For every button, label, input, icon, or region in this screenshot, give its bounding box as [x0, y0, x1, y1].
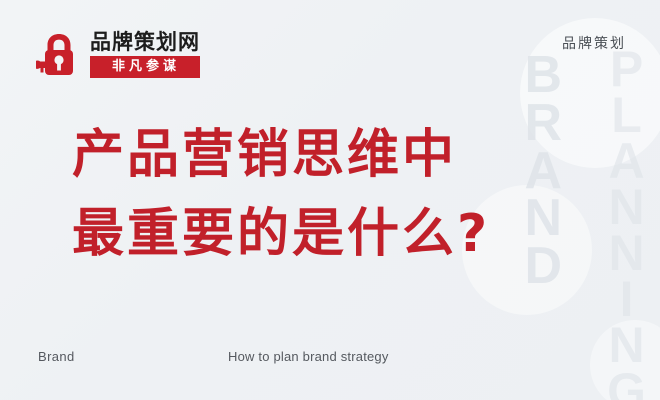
watermark-letter: N [608, 322, 644, 368]
footer-tagline: How to plan brand strategy [228, 349, 389, 364]
decorative-circle-bottom-right [590, 320, 660, 400]
watermark-letter: B [524, 52, 562, 100]
watermark-letter: A [524, 148, 562, 196]
watermark-brand: B R A N D [524, 52, 562, 291]
watermark-letter: N [608, 230, 644, 276]
logo-banner-slogan: 非凡参谋 [90, 56, 200, 78]
lock-with-key-icon [36, 30, 82, 80]
watermark-letter: L [611, 92, 642, 138]
watermark-letter: I [620, 276, 634, 322]
watermark-letter: G [607, 368, 646, 400]
headline-line-1: 产品营销思维中 [72, 116, 490, 195]
watermark-letter: N [608, 184, 644, 230]
logo-title: 品牌策划网 [90, 32, 200, 53]
watermark-letter: N [524, 195, 562, 243]
logo-text-block: 品牌策划网 非凡参谋 [90, 32, 200, 78]
top-right-label: 品牌策划 [562, 33, 626, 53]
footer-brand-label: Brand [38, 349, 75, 364]
site-logo[interactable]: 品牌策划网 非凡参谋 [36, 30, 200, 80]
poster-canvas: B R A N D P L A N N I N G [0, 0, 660, 400]
watermark-letter: D [524, 243, 562, 291]
watermark-letter: R [524, 100, 562, 148]
watermark-letter: A [608, 138, 644, 184]
watermark-planning: P L A N N I N G [607, 46, 646, 400]
headline-line-2: 最重要的是什么? [72, 195, 490, 274]
page-title: 产品营销思维中 最重要的是什么? [72, 116, 490, 274]
